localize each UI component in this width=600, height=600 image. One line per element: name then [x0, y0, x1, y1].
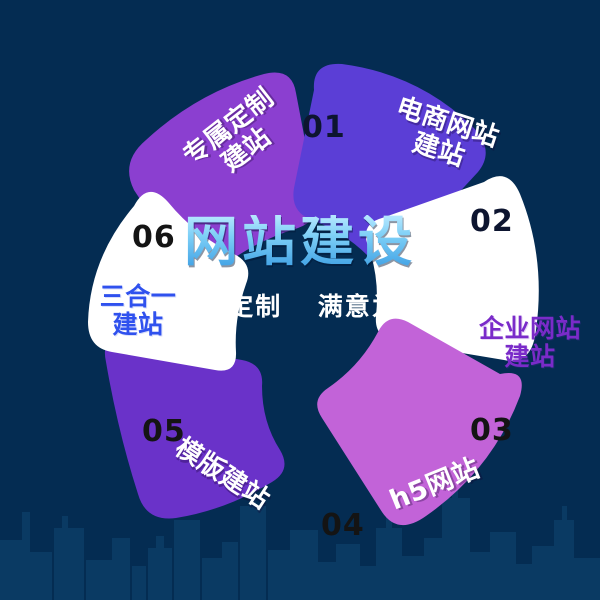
segment-01-number: 01 — [302, 110, 346, 145]
center-text-block: 网站建设 专属定制 满意为止 — [0, 215, 600, 323]
subtitle: 专属定制 满意为止 — [0, 287, 600, 323]
subtitle-right: 满意为止 — [318, 292, 426, 321]
segment-03-label: 企业网站 建站 — [460, 315, 600, 371]
poster-canvas: 专属定制 建站 01 电商网站 建站 02 企业网站 建站 03 h5网站 04… — [0, 0, 600, 600]
segment-05-number: 05 — [142, 414, 186, 449]
main-title: 网站建设 — [0, 215, 600, 269]
segment-03-number: 03 — [470, 413, 514, 448]
subtitle-left: 专属定制 — [174, 292, 282, 321]
segment-04-number: 04 — [321, 508, 365, 543]
